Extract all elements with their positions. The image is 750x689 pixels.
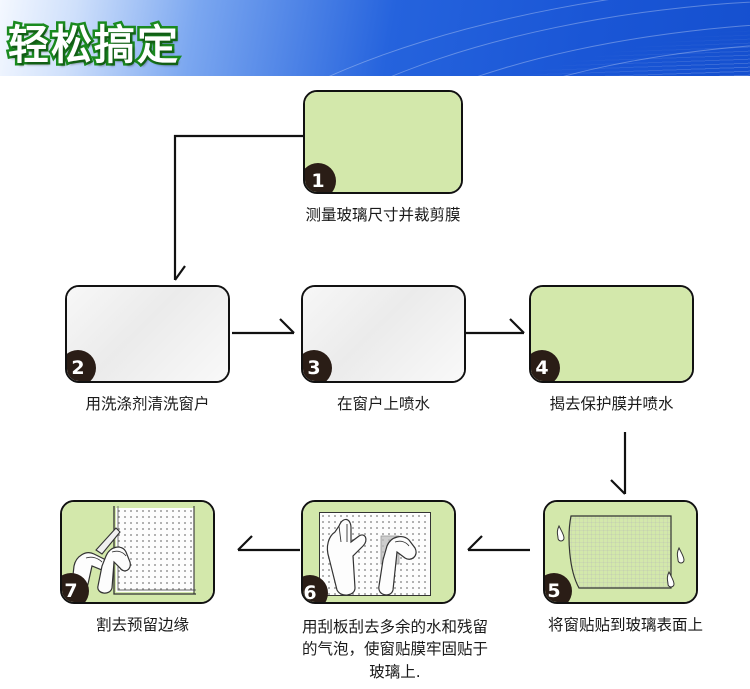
step-6-illustration: 6: [301, 500, 456, 604]
page-title: 轻松搞定: [8, 11, 180, 71]
step-1-number-badge: 1: [303, 164, 335, 194]
step-5: 5 将窗贴贴到玻璃表面上: [543, 500, 708, 636]
step-5-illustration: 5: [543, 500, 698, 604]
connector-step6-to-step7: [232, 532, 302, 558]
step-5-caption: 将窗贴贴到玻璃表面上: [543, 614, 708, 636]
step-1-caption: 测量玻璃尺寸并裁剪膜: [303, 204, 463, 226]
step-4-caption: 揭去保护膜并喷水: [529, 393, 694, 415]
step-1-illustration: 1: [303, 90, 463, 194]
step-4: 4 揭去保护膜并喷水: [529, 285, 694, 415]
step-3: 3 在窗户上喷水: [301, 285, 466, 415]
step-2-illustration: 2: [65, 285, 230, 383]
step-7-caption: 割去预留边缘: [60, 614, 225, 636]
step-2: 2 用洗涤剂清洗窗户: [65, 285, 230, 415]
step-7-illustration: 7: [60, 500, 215, 604]
header-banner: 轻松搞定: [0, 0, 750, 76]
step-7: 7 割去预留边缘: [60, 500, 225, 636]
step-6: 6 用刮板刮去多余的水和残留的气泡，使窗贴膜牢固贴于玻璃上.: [295, 500, 495, 683]
connector-step3-to-step4: [462, 317, 532, 343]
step-2-caption: 用洗涤剂清洗窗户: [65, 393, 230, 415]
step-1: 1 测量玻璃尺寸并裁剪膜: [303, 90, 463, 226]
connector-step1-to-step2: [165, 130, 315, 290]
infographic-page: 轻松搞定: [0, 0, 750, 689]
step-3-number-badge: 3: [301, 351, 331, 383]
connector-step4-to-step5: [608, 432, 642, 500]
step-4-illustration: 4: [529, 285, 694, 383]
step-6-caption: 用刮板刮去多余的水和残留的气泡，使窗贴膜牢固贴于玻璃上.: [295, 616, 495, 683]
step-4-number-badge: 4: [529, 351, 559, 383]
step-3-caption: 在窗户上喷水: [301, 393, 466, 415]
step-3-illustration: 3: [301, 285, 466, 383]
step-2-number-badge: 2: [65, 351, 95, 383]
connector-step2-to-step3: [232, 317, 302, 343]
